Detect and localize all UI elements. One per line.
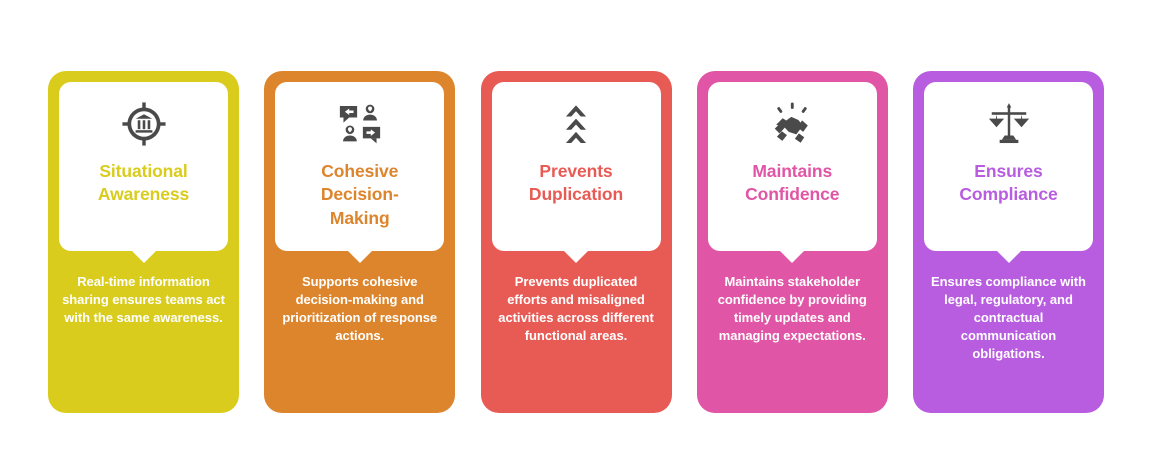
card-title-line: Making (330, 208, 390, 228)
card-title-line: Ensures (974, 161, 1042, 181)
card-description: Ensures compliance with legal, regulator… (926, 273, 1091, 363)
card-title: Situational Awareness (98, 160, 189, 207)
speech-bubbles-people-icon (332, 100, 388, 148)
card-title-line: Duplication (529, 184, 623, 204)
card-bubble: Maintains Confidence (708, 82, 877, 251)
bubble-tail (347, 250, 373, 263)
benefit-card-ensures-compliance[interactable]: Ensures Compliance Ensures compliance wi… (913, 71, 1104, 413)
card-title-line: Decision- (321, 184, 399, 204)
card-title-line: Situational (99, 161, 187, 181)
bubble-tail (779, 250, 805, 263)
card-bubble: Prevents Duplication (492, 82, 661, 251)
benefit-card-prevents-duplication[interactable]: Prevents Duplication Prevents duplicated… (481, 71, 672, 413)
card-bubble: Cohesive Decision- Making (275, 82, 444, 251)
infographic-root: Situational Awareness Real-time informat… (0, 0, 1152, 463)
card-title: Ensures Compliance (959, 160, 1057, 207)
card-bubble: Ensures Compliance (924, 82, 1093, 251)
card-description: Prevents duplicated efforts and misalign… (494, 273, 659, 345)
card-description: Supports cohesive decision-making and pr… (277, 273, 442, 345)
card-title-line: Awareness (98, 184, 189, 204)
card-description: Real-time information sharing ensures te… (61, 273, 226, 327)
handshake-icon (764, 100, 820, 148)
benefit-card-cohesive-decision-making[interactable]: Cohesive Decision- Making Supports cohes… (264, 71, 455, 413)
bubble-tail (563, 250, 589, 263)
card-description: Maintains stakeholder confidence by prov… (710, 273, 875, 345)
card-title: Maintains Confidence (745, 160, 839, 207)
benefit-cards-row: Situational Awareness Real-time informat… (48, 71, 1104, 413)
benefit-card-maintains-confidence[interactable]: Maintains Confidence Maintains stakehold… (697, 71, 888, 413)
balance-scales-icon (981, 100, 1037, 148)
card-title: Prevents Duplication (529, 160, 623, 207)
card-title-line: Confidence (745, 184, 839, 204)
card-title-line: Maintains (752, 161, 832, 181)
card-bubble: Situational Awareness (59, 82, 228, 251)
card-title-line: Cohesive (321, 161, 398, 181)
bubble-tail (131, 250, 157, 263)
card-title: Cohesive Decision- Making (321, 160, 399, 230)
target-bank-icon (116, 100, 172, 148)
triple-chevron-up-icon (548, 100, 604, 148)
benefit-card-situational-awareness[interactable]: Situational Awareness Real-time informat… (48, 71, 239, 413)
bubble-tail (996, 250, 1022, 263)
card-title-line: Prevents (539, 161, 612, 181)
card-title-line: Compliance (959, 184, 1057, 204)
